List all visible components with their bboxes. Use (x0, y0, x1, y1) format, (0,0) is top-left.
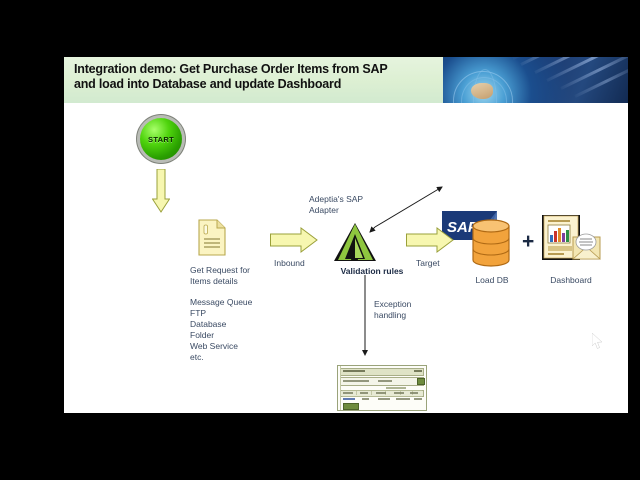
presentation-slide: Integration demo: Get Purchase Order Ite… (64, 57, 628, 413)
exception-handling-label: Exception handling (374, 299, 434, 321)
slide-header-band: Integration demo: Get Purchase Order Ite… (64, 57, 628, 103)
start-button[interactable]: START (140, 118, 182, 160)
request-doc-label: Get Request for Items details (190, 265, 285, 287)
adeptia-triangle-logo-icon (332, 221, 378, 263)
screen-root: Integration demo: Get Purchase Order Ite… (0, 0, 640, 480)
arrow-down-icon (152, 169, 170, 218)
plus-icon: + (522, 231, 534, 252)
mouse-pointer-icon (592, 333, 604, 351)
document-icon (197, 219, 227, 257)
validation-rules-label: Validation rules (332, 266, 412, 277)
dashboard-report-envelope-icon (540, 213, 602, 265)
exception-screenshot-thumbnail[interactable] (337, 365, 427, 411)
database-cylinder-icon (471, 219, 511, 267)
start-button-label: START (148, 135, 174, 144)
request-sources-list: Message Queue FTP Database Folder Web Se… (190, 297, 290, 363)
inbound-arrow-icon (270, 227, 318, 258)
target-arrow-icon (406, 227, 454, 258)
target-label: Target (416, 258, 440, 269)
page-title: Integration demo: Get Purchase Order Ite… (74, 62, 474, 92)
diagram-canvas: START Get Request for Items d (64, 103, 628, 413)
load-db-label: Load DB (461, 275, 523, 286)
sap-adapter-label: Adeptia's SAP Adapter (309, 194, 389, 216)
globe-network-banner-icon (443, 57, 628, 103)
dashboard-label: Dashboard (534, 275, 608, 286)
inbound-label: Inbound (274, 258, 305, 269)
